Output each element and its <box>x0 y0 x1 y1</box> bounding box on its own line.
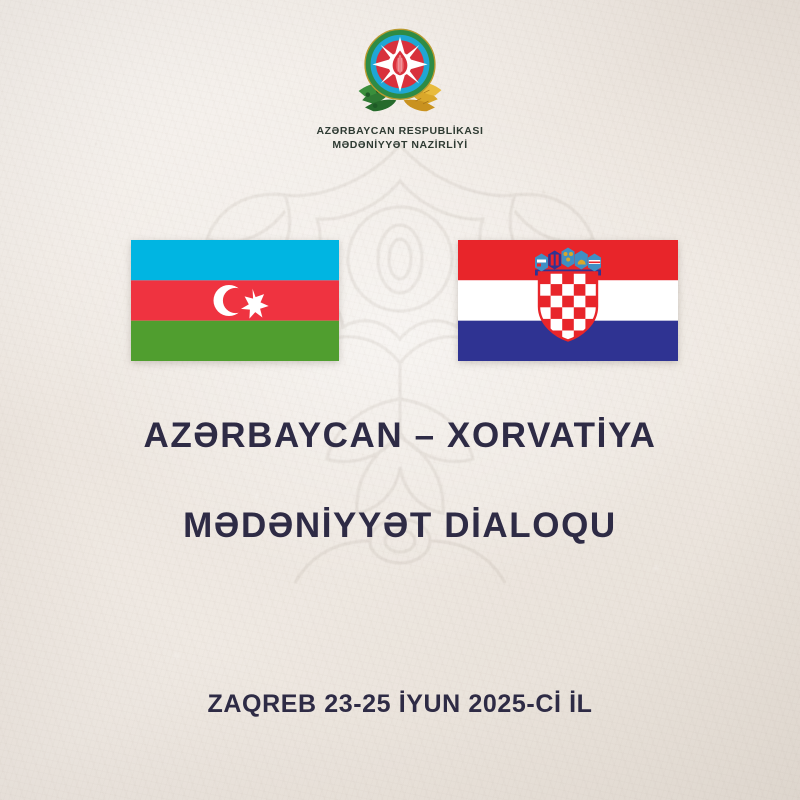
flag-croatia <box>458 240 678 361</box>
title-line-countries: AZƏRBAYCAN – XORVATİYA <box>0 418 800 455</box>
ministry-line-2: MƏDƏNİYYƏT NAZİRLİYİ <box>0 139 800 153</box>
azerbaijan-state-emblem-icon <box>354 22 446 114</box>
ministry-line-1: AZƏRBAYCAN RESPUBLİKASI <box>0 125 800 139</box>
flag-azerbaijan <box>131 240 339 361</box>
az-flag-band-green <box>131 321 339 361</box>
ministry-name: AZƏRBAYCAN RESPUBLİKASI MƏDƏNİYYƏT NAZİR… <box>0 125 800 152</box>
event-details: ZAQREB 23-25 İYUN 2025-Cİ İL <box>0 690 800 719</box>
main-title: AZƏRBAYCAN – XORVATİYA MƏDƏNİYYƏT DİALOQ… <box>0 418 800 545</box>
title-line-subject: MƏDƏNİYYƏT DİALOQU <box>0 508 800 545</box>
poster-canvas: AZƏRBAYCAN RESPUBLİKASI MƏDƏNİYYƏT NAZİR… <box>0 0 800 800</box>
az-flag-band-blue <box>131 240 339 280</box>
ministry-header: AZƏRBAYCAN RESPUBLİKASI MƏDƏNİYYƏT NAZİR… <box>0 22 800 152</box>
